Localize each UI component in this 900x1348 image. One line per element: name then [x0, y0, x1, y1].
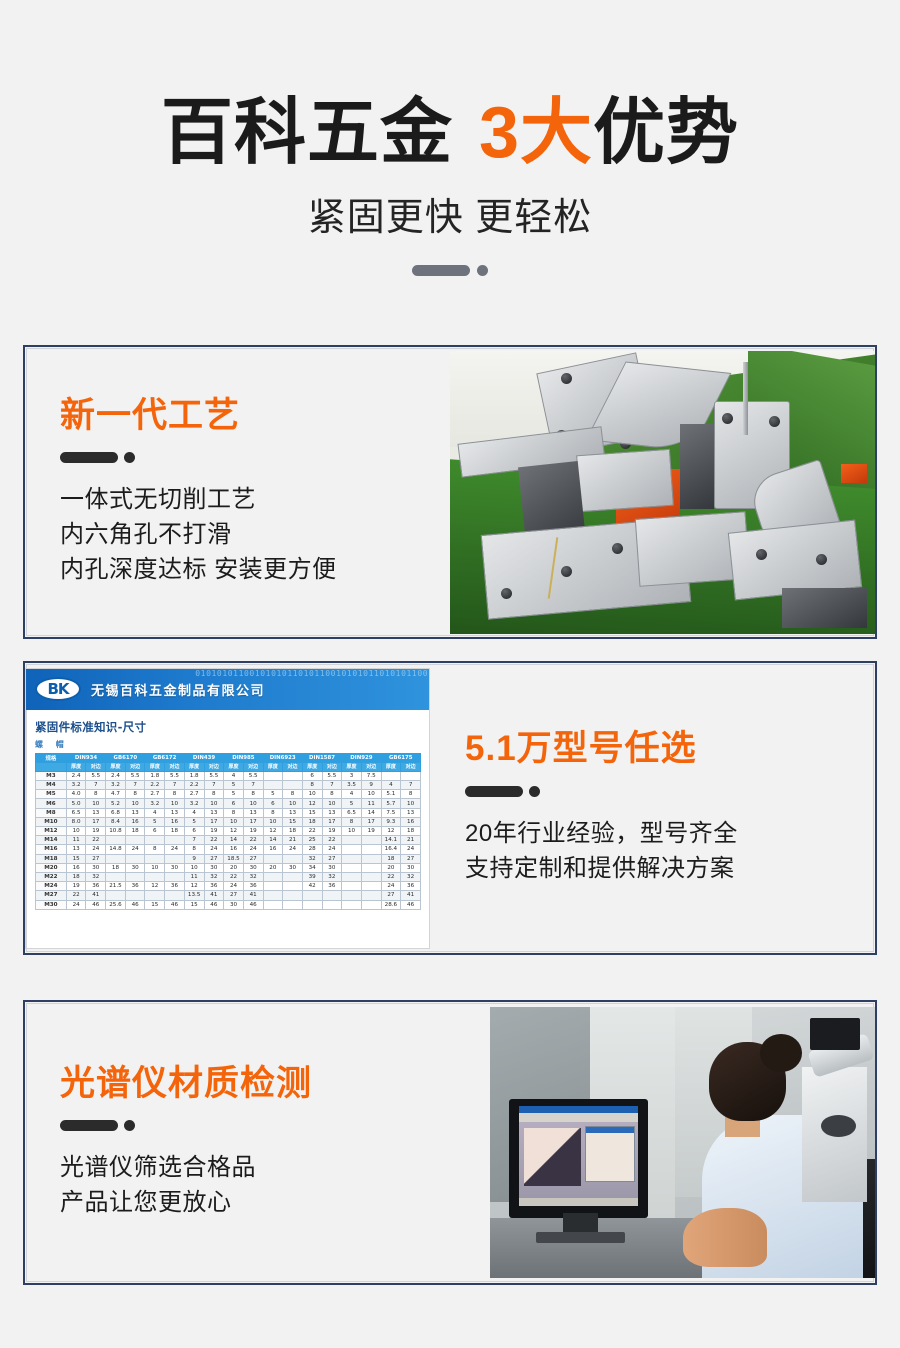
table-cell: 8 — [263, 808, 283, 817]
table-cell: 10 — [342, 827, 362, 836]
table-cell: 27 — [381, 891, 401, 900]
divider-bar-icon — [465, 786, 523, 797]
table-cell: 18 — [381, 854, 401, 863]
table-cell: 24 — [381, 882, 401, 891]
table-cell: 19 — [243, 827, 263, 836]
table-cell — [125, 891, 145, 900]
page-title: 百科五金3大优势 — [0, 96, 900, 172]
table-row: M108.0178.4165165171017101518178179.316 — [36, 817, 421, 826]
table-cell: 6.5 — [66, 808, 86, 817]
table-cell: 28 — [302, 845, 322, 854]
table-cell: 5.2 — [106, 799, 126, 808]
table-cell: 41 — [243, 891, 263, 900]
divider-dot-icon — [124, 452, 135, 463]
table-cell: 8.0 — [66, 817, 86, 826]
table-cell — [322, 900, 342, 909]
table-cell: 14 — [224, 836, 244, 845]
table-row: M86.5136.81341341381381315136.5147.513 — [36, 808, 421, 817]
table-cell: 8 — [86, 790, 106, 799]
card-body-line: 内孔深度达标 安装更方便 — [60, 552, 440, 587]
table-cell: 7 — [86, 781, 106, 790]
table-standard-header: GB6172 — [145, 753, 184, 762]
table-cell-size: M12 — [36, 827, 67, 836]
table-cell — [342, 882, 362, 891]
table-cell — [106, 891, 126, 900]
divider-dot-icon — [529, 786, 540, 797]
table-cell: 8.4 — [106, 817, 126, 826]
table-cell: 7 — [401, 781, 421, 790]
table-cell: 10 — [322, 799, 342, 808]
table-cell — [381, 771, 401, 780]
table-cell: 18 — [401, 827, 421, 836]
table-cell: 21 — [401, 836, 421, 845]
table-cell: 27 — [322, 854, 342, 863]
feature-card-spectrometer: 光谱仪材质检测 光谱仪筛选合格品 产品让您更放心 — [23, 1000, 877, 1285]
table-cell — [145, 836, 165, 845]
table-cell: 16 — [401, 817, 421, 826]
table-cell: 12 — [145, 882, 165, 891]
table-cell-size: M3 — [36, 771, 67, 780]
table-cell — [165, 872, 185, 881]
table-cell: 18.5 — [224, 854, 244, 863]
card-title: 新一代工艺 — [60, 397, 440, 436]
table-cell — [165, 854, 185, 863]
table-standard-header: DIN929 — [342, 753, 381, 762]
table-cell — [401, 771, 421, 780]
table-cell: 30 — [224, 900, 244, 909]
table-row: M2016301830103010302030203034302030 — [36, 863, 421, 872]
table-cell: 3.2 — [184, 799, 204, 808]
table-row: M2218321132223239322232 — [36, 872, 421, 881]
table-cell: 1.8 — [184, 771, 204, 780]
table-cell: 5 — [145, 817, 165, 826]
table-cell: 10 — [145, 863, 165, 872]
table-cell: 10 — [401, 799, 421, 808]
table-cell — [263, 900, 283, 909]
table-row: M16132414.82482482416241624282416.424 — [36, 845, 421, 854]
table-cell: 12 — [263, 827, 283, 836]
divider-bar-icon — [60, 1120, 118, 1131]
table-cell: 34 — [302, 863, 322, 872]
table-cell — [165, 836, 185, 845]
table-cell: 7.5 — [381, 808, 401, 817]
table-cell: 11 — [66, 836, 86, 845]
table-cell: 14 — [361, 808, 381, 817]
table-cell — [145, 891, 165, 900]
table-cell: 46 — [165, 900, 185, 909]
table-cell — [125, 854, 145, 863]
table-cell: 27 — [86, 854, 106, 863]
table-cell: 8 — [342, 817, 362, 826]
card-title: 光谱仪材质检测 — [60, 1065, 480, 1104]
table-cell: 12 — [381, 827, 401, 836]
table-cell: 8 — [184, 845, 204, 854]
table-row: M54.084.782.782.7858581084105.18 — [36, 790, 421, 799]
table-sub-header: 对边 — [204, 762, 224, 771]
table-cell: 5.5 — [86, 771, 106, 780]
table-cell-size: M10 — [36, 817, 67, 826]
table-shot-banner: 0101010110010101011010110010101011010101… — [26, 669, 429, 710]
table-cell: 18 — [283, 827, 303, 836]
table-cell: 3.2 — [145, 799, 165, 808]
table-cell: 7 — [243, 781, 263, 790]
card-text-block: 光谱仪材质检测 光谱仪筛选合格品 产品让您更放心 — [25, 1065, 490, 1221]
table-cell — [263, 882, 283, 891]
table-cell: 14.8 — [106, 845, 126, 854]
table-cell: 39 — [302, 872, 322, 881]
table-cell: 41 — [86, 891, 106, 900]
table-cell: 13 — [401, 808, 421, 817]
table-sub-header: 对边 — [322, 762, 342, 771]
table-cell — [145, 872, 165, 881]
table-cell: 14 — [263, 836, 283, 845]
table-cell: 41 — [204, 891, 224, 900]
table-cell — [361, 891, 381, 900]
table-cell — [361, 863, 381, 872]
table-cell — [302, 891, 322, 900]
table-cell: 41 — [401, 891, 421, 900]
table-cell: 24 — [86, 845, 106, 854]
table-cell: 27 — [204, 854, 224, 863]
table-cell — [263, 872, 283, 881]
table-cell: 13 — [66, 845, 86, 854]
table-sub-header: 厚度 — [302, 762, 322, 771]
table-cell: 20 — [224, 863, 244, 872]
table-sub-header: 对边 — [401, 762, 421, 771]
table-cell: 22 — [66, 891, 86, 900]
table-cell: 18 — [125, 827, 145, 836]
table-header-row-sub: 厚度对边厚度对边厚度对边厚度对边厚度对边厚度对边厚度对边厚度对边厚度对边 — [36, 762, 421, 771]
divider-dot-icon — [124, 1120, 135, 1131]
page-header: 百科五金3大优势 紧固更快 更轻松 — [0, 0, 900, 276]
table-cell: 2.2 — [184, 781, 204, 790]
table-row: M27224113.54127412741 — [36, 891, 421, 900]
table-cell: 24 — [125, 845, 145, 854]
table-cell: 15 — [283, 817, 303, 826]
divider-bar-icon — [60, 452, 118, 463]
table-cell: 3.5 — [342, 781, 362, 790]
table-cell: 5 — [342, 799, 362, 808]
table-cell — [125, 872, 145, 881]
table-cell: 10 — [302, 790, 322, 799]
table-cell: 6 — [263, 799, 283, 808]
table-cell: 8 — [283, 790, 303, 799]
table-cell: 5.5 — [165, 771, 185, 780]
table-cell: 15 — [145, 900, 165, 909]
table-cell-size: M4 — [36, 781, 67, 790]
card-divider-ornament — [60, 452, 440, 463]
table-cell — [145, 854, 165, 863]
table-sub-header: 厚度 — [342, 762, 362, 771]
table-cell: 18 — [302, 817, 322, 826]
table-cell: 12 — [224, 827, 244, 836]
table-cell: 30 — [165, 863, 185, 872]
table-cell: 16 — [165, 817, 185, 826]
table-sub-header: 厚度 — [224, 762, 244, 771]
table-cell: 4.7 — [106, 790, 126, 799]
table-cell — [361, 900, 381, 909]
table-cell — [302, 900, 322, 909]
table-cell: 8 — [125, 790, 145, 799]
table-cell: 8 — [243, 790, 263, 799]
machine-photo — [450, 351, 875, 634]
table-cell: 24 — [165, 845, 185, 854]
table-cell: 22 — [302, 827, 322, 836]
table-cell: 7 — [165, 781, 185, 790]
table-cell: 24 — [322, 845, 342, 854]
table-cell: 46 — [125, 900, 145, 909]
table-cell: 13 — [322, 808, 342, 817]
table-cell: 6 — [145, 827, 165, 836]
product-feature-page: 百科五金3大优势 紧固更快 更轻松 新一代工艺 一体式无切削工艺 内六角孔不打滑… — [0, 0, 900, 1348]
table-cell: 12 — [184, 882, 204, 891]
card-body-line: 支持定制和提供解决方案 — [465, 851, 860, 886]
table-cell: 17 — [322, 817, 342, 826]
table-cell: 36 — [86, 882, 106, 891]
company-name: 无锡百科五金制品有限公司 — [91, 680, 265, 699]
table-cell: 36 — [204, 882, 224, 891]
table-cell: 2.7 — [184, 790, 204, 799]
table-cell — [283, 900, 303, 909]
table-cell: 11 — [361, 799, 381, 808]
table-cell — [342, 872, 362, 881]
table-cell: 21.5 — [106, 882, 126, 891]
table-row: M24193621.53612361236243642362436 — [36, 882, 421, 891]
table-cell: 19 — [204, 827, 224, 836]
table-cell: 13 — [243, 808, 263, 817]
table-cell: 5.7 — [381, 799, 401, 808]
table-cell: 46 — [243, 900, 263, 909]
table-cell — [283, 781, 303, 790]
table-cell: 5 — [263, 790, 283, 799]
table-cell — [322, 891, 342, 900]
table-cell: 3.2 — [106, 781, 126, 790]
table-cell: 8 — [145, 845, 165, 854]
table-cell: 2.4 — [66, 771, 86, 780]
table-cell: 32 — [243, 872, 263, 881]
page-subtitle: 紧固更快 更轻松 — [0, 186, 900, 241]
table-standard-header: DIN985 — [224, 753, 263, 762]
table-cell: 7 — [184, 836, 204, 845]
table-cell-size: M30 — [36, 900, 67, 909]
table-cell: 24 — [66, 900, 86, 909]
table-row: M43.273.272.272.2757873.5947 — [36, 781, 421, 790]
table-cell: 30 — [204, 863, 224, 872]
table-cell: 8 — [401, 790, 421, 799]
table-sub-header: 厚度 — [106, 762, 126, 771]
table-cell: 24 — [243, 845, 263, 854]
table-sub-header: 厚度 — [184, 762, 204, 771]
feature-card-model-range: 0101010110010101011010110010101011010101… — [23, 661, 877, 955]
table-cell: 19 — [86, 827, 106, 836]
table-cell — [283, 872, 303, 881]
table-cell: 46 — [86, 900, 106, 909]
table-cell: 10 — [165, 799, 185, 808]
table-cell — [342, 900, 362, 909]
table-cell-size: M5 — [36, 790, 67, 799]
table-cell: 24 — [204, 845, 224, 854]
table-cell: 7 — [125, 781, 145, 790]
monitor-screen — [519, 1106, 638, 1206]
card-body-line: 内六角孔不打滑 — [60, 517, 440, 552]
table-cell: 32 — [302, 854, 322, 863]
table-cell — [106, 836, 126, 845]
table-cell-size: M24 — [36, 882, 67, 891]
table-cell: 4 — [145, 808, 165, 817]
table-cell-size: M22 — [36, 872, 67, 881]
standards-table-screenshot: 0101010110010101011010110010101011010101… — [25, 668, 430, 949]
divider-bar-icon — [412, 265, 470, 276]
table-cell: 16 — [263, 845, 283, 854]
table-cell: 4 — [381, 781, 401, 790]
table-cell: 11 — [184, 872, 204, 881]
card-body-line: 一体式无切削工艺 — [60, 482, 440, 517]
table-cell: 32 — [322, 872, 342, 881]
table-cell: 9 — [361, 781, 381, 790]
table-cell: 3 — [342, 771, 362, 780]
table-size-subheader — [36, 762, 67, 771]
table-cell: 18 — [165, 827, 185, 836]
table-cell-size: M6 — [36, 799, 67, 808]
table-shot-body: 紧固件标准知识-尺寸 螺 帽 规格 DIN934GB6170GB6172DIN4… — [26, 710, 429, 910]
table-cell: 5.5 — [204, 771, 224, 780]
table-cell — [342, 845, 362, 854]
table-cell: 30 — [243, 863, 263, 872]
table-standard-header: GB6175 — [381, 753, 420, 762]
table-sub-header: 对边 — [361, 762, 381, 771]
table-cell: 18 — [106, 863, 126, 872]
card-title: 5.1万型号任选 — [465, 730, 860, 769]
table-cell: 16 — [224, 845, 244, 854]
table-cell-size: M16 — [36, 845, 67, 854]
table-sub-header: 厚度 — [66, 762, 86, 771]
card-body: 20年行业经验，型号齐全 支持定制和提供解决方案 — [465, 816, 860, 886]
table-cell: 24 — [283, 845, 303, 854]
table-cell: 5.0 — [66, 799, 86, 808]
table-cell — [263, 771, 283, 780]
table-cell: 5.1 — [381, 790, 401, 799]
table-cell — [361, 854, 381, 863]
table-cell: 4 — [184, 808, 204, 817]
table-cell: 9.3 — [381, 817, 401, 826]
table-cell: 22 — [322, 836, 342, 845]
table-cell: 30 — [86, 863, 106, 872]
table-cell — [263, 781, 283, 790]
table-sub-header: 厚度 — [145, 762, 165, 771]
table-cell: 46 — [204, 900, 224, 909]
table-cell: 13 — [86, 808, 106, 817]
table-cell: 6 — [302, 771, 322, 780]
table-cell: 8 — [322, 790, 342, 799]
table-cell — [342, 863, 362, 872]
table-size-header: 规格 — [36, 753, 67, 762]
table-cell: 5 — [224, 781, 244, 790]
table-row: M32.45.52.45.51.85.51.85.545.565.537.5 — [36, 771, 421, 780]
table-header-row-standards: 规格 DIN934GB6170GB6172DIN439DIN985DIN6923… — [36, 753, 421, 762]
table-standard-header: DIN6923 — [263, 753, 302, 762]
table-cell: 6 — [184, 827, 204, 836]
table-cell — [361, 836, 381, 845]
table-cell: 30 — [283, 863, 303, 872]
table-cell: 17 — [86, 817, 106, 826]
card-text-block: 新一代工艺 一体式无切削工艺 内六角孔不打滑 内孔深度达标 安装更方便 — [25, 397, 450, 588]
table-cell: 15 — [184, 900, 204, 909]
table-cell: 13 — [125, 808, 145, 817]
table-heading: 紧固件标准知识-尺寸 — [35, 719, 421, 735]
header-divider-ornament — [0, 265, 900, 276]
table-cell-size: M18 — [36, 854, 67, 863]
table-standard-header: GB6170 — [106, 753, 145, 762]
page-title-main: 百科五金 — [161, 93, 453, 173]
table-cell: 10 — [86, 799, 106, 808]
table-cell: 19 — [361, 827, 381, 836]
table-body: M32.45.52.45.51.85.51.85.545.565.537.5M4… — [36, 771, 421, 909]
table-cell: 27 — [224, 891, 244, 900]
table-cell: 36 — [243, 882, 263, 891]
table-cell — [361, 872, 381, 881]
table-cell: 17 — [361, 817, 381, 826]
table-cell: 7 — [322, 781, 342, 790]
feature-card-new-process: 新一代工艺 一体式无切削工艺 内六角孔不打滑 内孔深度达标 安装更方便 — [23, 345, 877, 639]
table-cell: 22 — [224, 872, 244, 881]
table-cell: 8 — [165, 790, 185, 799]
table-cell: 30 — [125, 863, 145, 872]
table-standard-header: DIN439 — [184, 753, 223, 762]
table-cell: 2.7 — [145, 790, 165, 799]
table-cell: 36 — [125, 882, 145, 891]
table-cell: 32 — [86, 872, 106, 881]
table-cell — [283, 891, 303, 900]
table-cell: 36 — [322, 882, 342, 891]
table-cell: 18 — [66, 872, 86, 881]
table-row: M30244625.64615461546304628.646 — [36, 900, 421, 909]
table-sub-header: 对边 — [165, 762, 185, 771]
table-cell: 5 — [184, 817, 204, 826]
page-title-tail: 优势 — [593, 93, 739, 173]
table-cell: 24 — [224, 882, 244, 891]
table-row: M12101910.81861861912191218221910191218 — [36, 827, 421, 836]
table-cell: 5.5 — [125, 771, 145, 780]
table-cell — [283, 771, 303, 780]
table-cell: 5.5 — [243, 771, 263, 780]
table-cell — [361, 845, 381, 854]
table-cell: 6 — [224, 799, 244, 808]
card-body: 一体式无切削工艺 内六角孔不打滑 内孔深度达标 安装更方便 — [60, 482, 440, 587]
table-cell: 4 — [342, 790, 362, 799]
table-cell: 3.2 — [66, 781, 86, 790]
card-body-line: 光谱仪筛选合格品 — [60, 1150, 480, 1185]
table-cell: 46 — [401, 900, 421, 909]
table-cell — [283, 854, 303, 863]
table-cell — [342, 854, 362, 863]
table-cell: 36 — [401, 882, 421, 891]
table-sub-header: 对边 — [283, 762, 303, 771]
table-cell: 27 — [243, 854, 263, 863]
table-cell: 21 — [283, 836, 303, 845]
table-cell: 5 — [224, 790, 244, 799]
table-cell: 17 — [204, 817, 224, 826]
table-cell — [125, 836, 145, 845]
table-cell: 22 — [86, 836, 106, 845]
card-body-line: 产品让您更放心 — [60, 1185, 480, 1220]
table-cell: 15 — [66, 854, 86, 863]
table-cell: 16.4 — [381, 845, 401, 854]
table-cell: 16 — [125, 817, 145, 826]
card-text-block: 5.1万型号任选 20年行业经验，型号齐全 支持定制和提供解决方案 — [430, 730, 870, 886]
fastener-dimension-table: 规格 DIN934GB6170GB6172DIN439DIN985DIN6923… — [35, 753, 421, 910]
table-sub-header: 厚度 — [263, 762, 283, 771]
table-cell: 7 — [204, 781, 224, 790]
